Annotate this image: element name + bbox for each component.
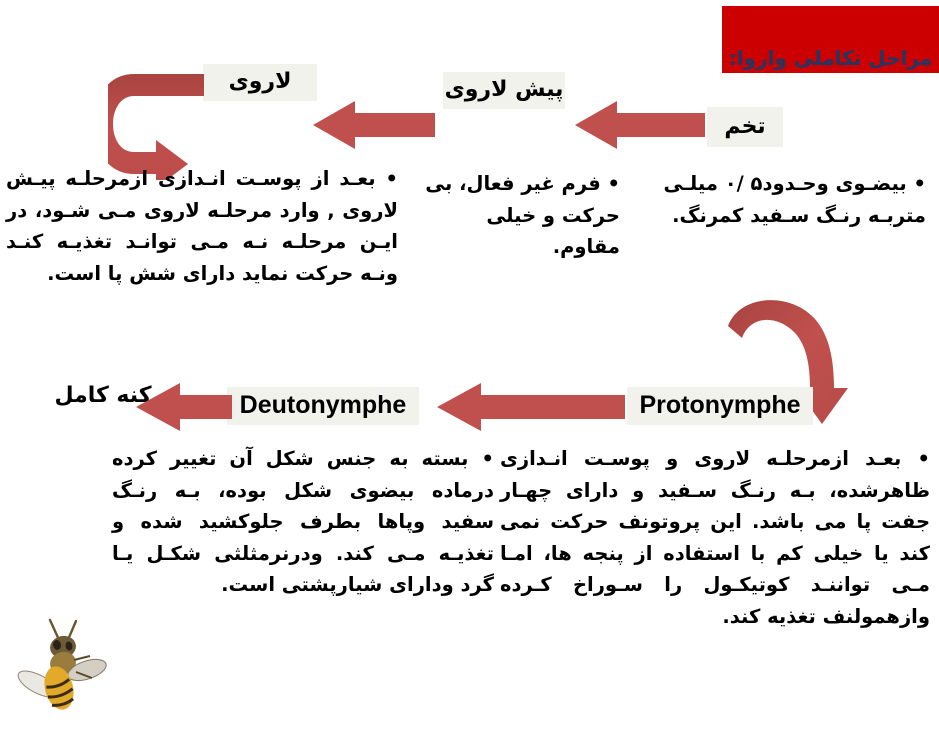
stage-label-larva: لاروی <box>229 70 292 94</box>
stage-label-protonymph: Protonymphe <box>639 392 800 420</box>
stage-label-prelarva: پیش لاروی <box>445 78 564 102</box>
title-banner: مراحل تکاملی واروا: <box>722 6 939 73</box>
stage-label-deutonymph: Deutonymphe <box>240 392 407 420</box>
stage-box-prelarva[interactable]: پیش لاروی <box>443 72 565 109</box>
description-larva: • بعـد از پوسـت انـدازی ازمرحلـه پیـش لا… <box>6 163 398 289</box>
description-protonymph: • بعـد ازمرحلـه لاروی و پوسـت انـدازی ظا… <box>500 443 930 632</box>
stage-label-egg: تخم <box>724 115 765 139</box>
description-deutonymph: • بسته به جنس شکل آن تغییر کرده درماده ب… <box>112 443 494 601</box>
stage-box-egg[interactable]: تخم <box>707 107 783 147</box>
stage-box-protonymph[interactable]: Protonymphe <box>627 387 813 425</box>
description-prelarva: • فرم غیر فعال، بی حرکت و خیلی مقاوم. <box>420 168 620 263</box>
page-title: مراحل تکاملی واروا: <box>722 47 939 69</box>
description-egg: • بیضـوی وحـدود۵ /۰ میلـی متربـه رنـگ سـ… <box>640 168 926 231</box>
stage-box-deutonymph[interactable]: Deutonymphe <box>227 387 419 425</box>
slide-canvas: مراحل تکاملی واروا: تخم پیش لاروی لاروی <box>0 0 939 746</box>
honeybee-icon <box>14 612 110 716</box>
stage-box-larva[interactable]: لاروی <box>203 64 317 101</box>
